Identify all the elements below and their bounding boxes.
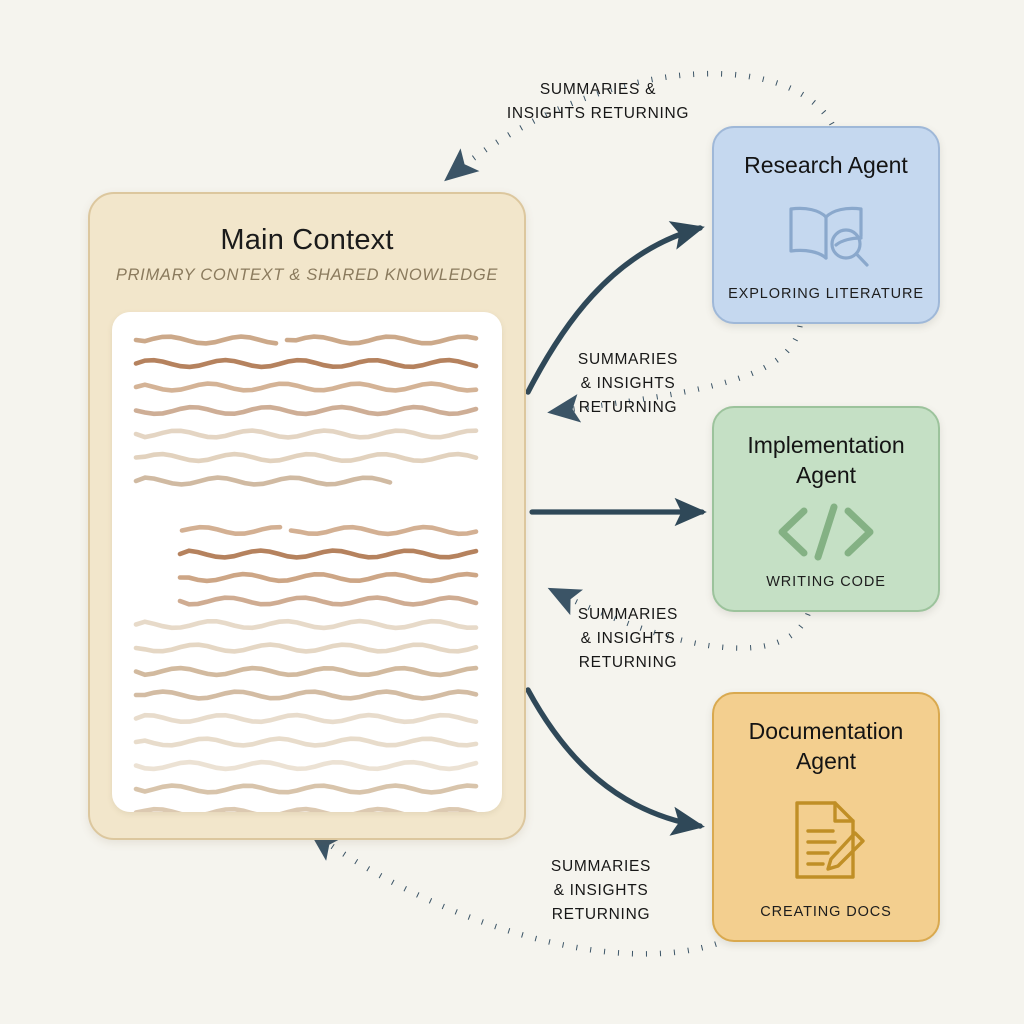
main-context-title: Main Context bbox=[90, 224, 524, 257]
agent-status-documentation: CREATING DOCS bbox=[750, 904, 901, 920]
book-search-icon bbox=[714, 180, 938, 286]
edge-label-documentation-return: SUMMARIES & INSIGHTS RETURNING bbox=[548, 603, 708, 675]
diagram-canvas: Main Context PRIMARY CONTEXT & SHARED KN… bbox=[0, 0, 1024, 1024]
agent-status-implementation: WRITING CODE bbox=[756, 574, 896, 590]
edge-label-bottom-return: SUMMARIES & INSIGHTS RETURNING bbox=[518, 855, 684, 927]
agent-title-research: Research Agent bbox=[730, 150, 922, 180]
document-text-lines bbox=[112, 312, 502, 812]
edge-label-implementation-return: SUMMARIES & INSIGHTS RETURNING bbox=[548, 348, 708, 420]
main-context-card[interactable]: Main Context PRIMARY CONTEXT & SHARED KN… bbox=[88, 192, 526, 840]
agent-status-research: EXPLORING LITERATURE bbox=[718, 286, 934, 302]
edge-main-to-documentation bbox=[528, 690, 700, 826]
agent-title-documentation: Documentation Agent bbox=[714, 716, 938, 776]
agent-card-implementation[interactable]: Implementation Agent WRITING CODE bbox=[712, 406, 940, 612]
document-pencil-icon bbox=[714, 776, 938, 904]
edge-label-research-return: SUMMARIES & INSIGHTS RETURNING bbox=[468, 78, 728, 126]
agent-card-documentation[interactable]: Documentation Agent CREATING DOCS bbox=[712, 692, 940, 942]
main-context-subtitle: PRIMARY CONTEXT & SHARED KNOWLEDGE bbox=[90, 266, 524, 285]
document-sheet bbox=[112, 312, 502, 812]
agent-card-research[interactable]: Research Agent EXPLORING LITERATURE bbox=[712, 126, 940, 324]
code-brackets-icon bbox=[714, 490, 938, 574]
agent-title-implementation: Implementation Agent bbox=[714, 430, 938, 490]
